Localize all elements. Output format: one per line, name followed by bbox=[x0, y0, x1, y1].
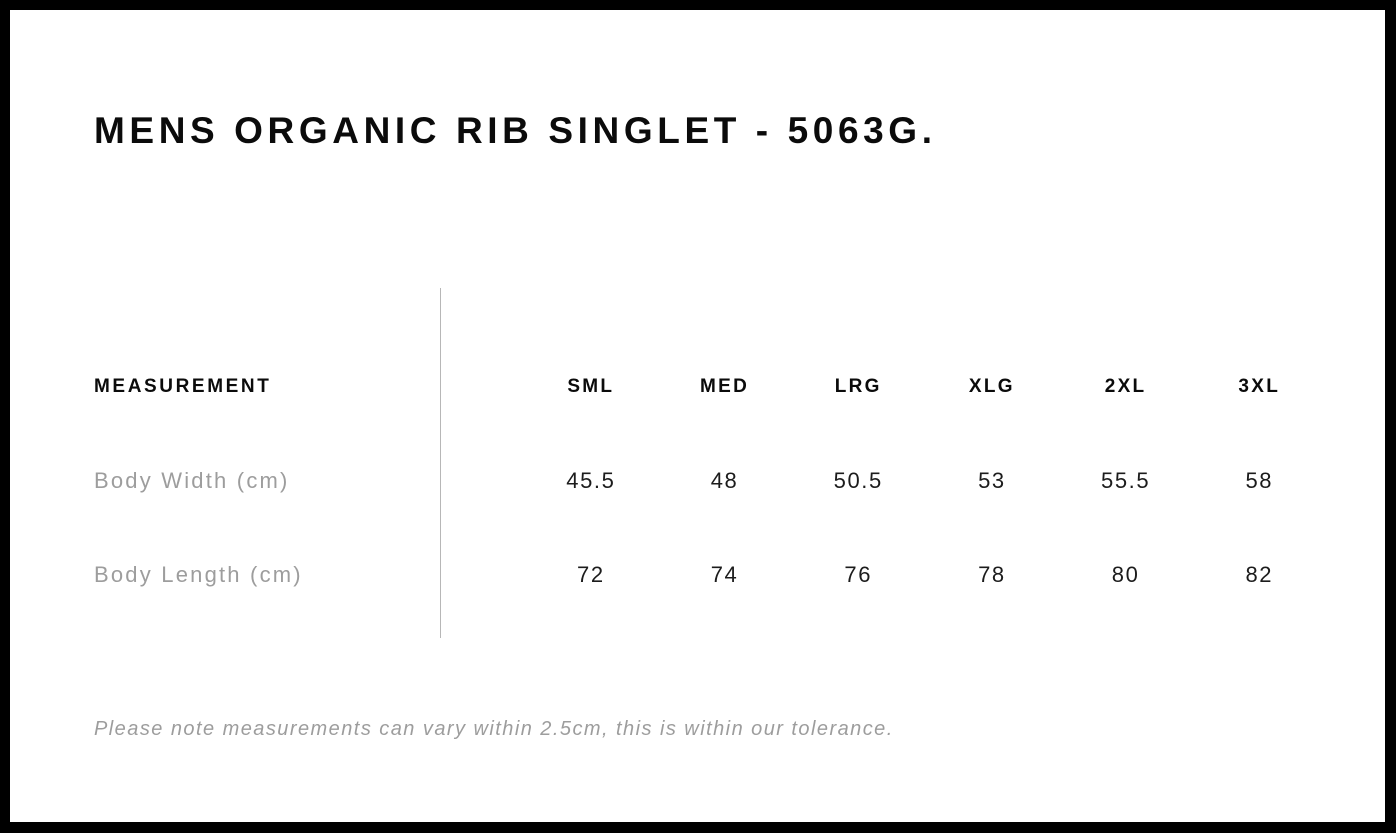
cell-body-width-sml: 45.5 bbox=[524, 434, 658, 528]
column-header-sml: SML bbox=[524, 340, 658, 434]
cell-body-length-3xl: 82 bbox=[1192, 528, 1326, 622]
cell-body-width-xlg: 53 bbox=[925, 434, 1059, 528]
row-label-body-width: Body Width (cm) bbox=[94, 434, 524, 528]
size-chart-table: MEASUREMENT SML MED LRG XLG 2XL 3XL Body… bbox=[94, 340, 1326, 622]
column-header-measurement: MEASUREMENT bbox=[94, 340, 524, 434]
column-header-2xl: 2XL bbox=[1059, 340, 1193, 434]
row-label-body-length: Body Length (cm) bbox=[94, 528, 524, 622]
cell-body-length-med: 74 bbox=[658, 528, 792, 622]
cell-body-width-2xl: 55.5 bbox=[1059, 434, 1193, 528]
cell-body-length-xlg: 78 bbox=[925, 528, 1059, 622]
outer-border-frame: MENS ORGANIC RIB SINGLET - 5063G. MEASUR… bbox=[0, 0, 1396, 833]
cell-body-width-lrg: 50.5 bbox=[791, 434, 925, 528]
cell-body-width-med: 48 bbox=[658, 434, 792, 528]
cell-body-length-2xl: 80 bbox=[1059, 528, 1193, 622]
column-header-3xl: 3XL bbox=[1192, 340, 1326, 434]
column-header-lrg: LRG bbox=[791, 340, 925, 434]
column-header-xlg: XLG bbox=[925, 340, 1059, 434]
column-header-med: MED bbox=[658, 340, 792, 434]
cell-body-length-sml: 72 bbox=[524, 528, 658, 622]
size-chart-page: MENS ORGANIC RIB SINGLET - 5063G. MEASUR… bbox=[10, 10, 1385, 822]
table-row: Body Width (cm) 45.5 48 50.5 53 55.5 58 bbox=[94, 434, 1326, 528]
cell-body-length-lrg: 76 bbox=[791, 528, 925, 622]
table-row: Body Length (cm) 72 74 76 78 80 82 bbox=[94, 528, 1326, 622]
table-header-row: MEASUREMENT SML MED LRG XLG 2XL 3XL bbox=[94, 340, 1326, 434]
tolerance-note: Please note measurements can vary within… bbox=[94, 718, 894, 741]
cell-body-width-3xl: 58 bbox=[1192, 434, 1326, 528]
size-chart-container: MEASUREMENT SML MED LRG XLG 2XL 3XL Body… bbox=[10, 10, 1385, 822]
